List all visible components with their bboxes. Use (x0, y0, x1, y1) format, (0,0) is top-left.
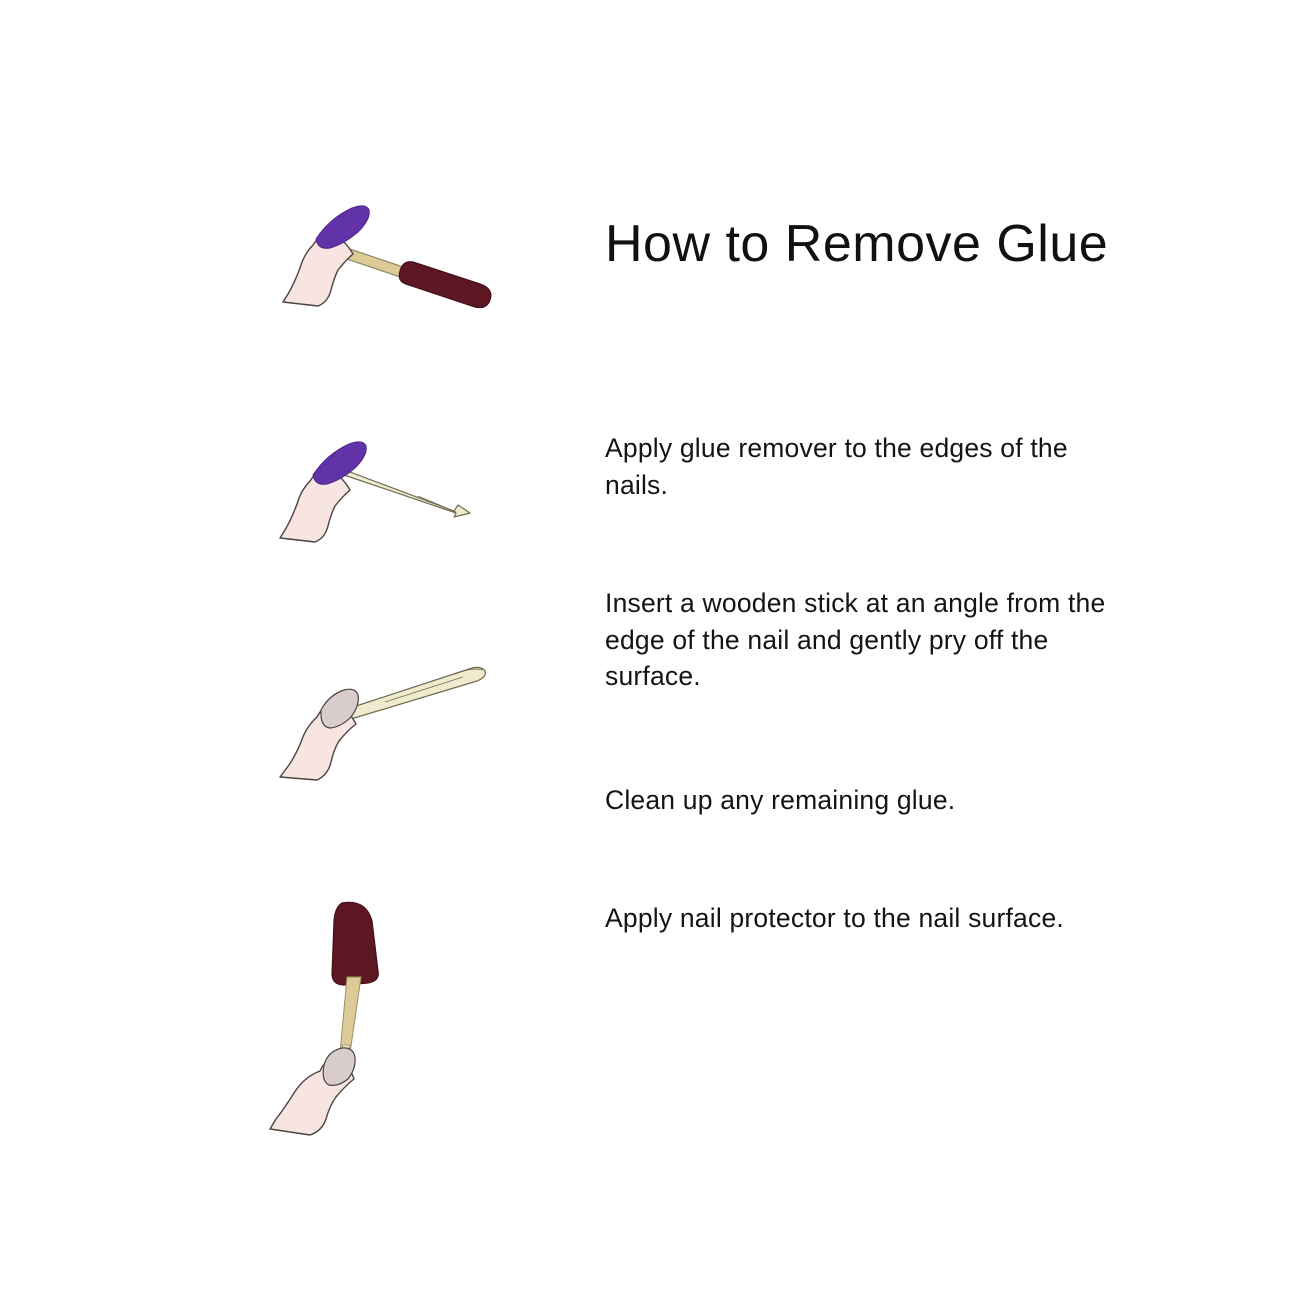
step-2-text: Insert a wooden stick at an angle from t… (605, 585, 1115, 695)
wooden-stick-icon (340, 977, 361, 1057)
burgundy-cap-icon (399, 262, 491, 308)
wooden-stick-icon (342, 469, 470, 517)
wooden-stick-icon (347, 667, 485, 719)
infographic-page: How to Remove Glue (0, 0, 1290, 1290)
illustration-step-4-applicator-over-bare-nail (258, 885, 443, 1150)
step-1-text: Apply glue remover to the edges of the n… (605, 430, 1115, 503)
illustration-step-1-capped-applicator (258, 190, 518, 330)
illustration-step-2-wooden-stick-at-nail-edge (258, 435, 518, 555)
step-3-text: Clean up any remaining glue. (605, 782, 1115, 819)
burgundy-cap-icon (332, 902, 378, 985)
step-4-text: Apply nail protector to the nail surface… (605, 900, 1115, 937)
illustration-step-3-bare-nail-with-stick (255, 645, 520, 795)
page-title: How to Remove Glue (605, 216, 1245, 273)
purple-nail-icon (316, 206, 369, 248)
